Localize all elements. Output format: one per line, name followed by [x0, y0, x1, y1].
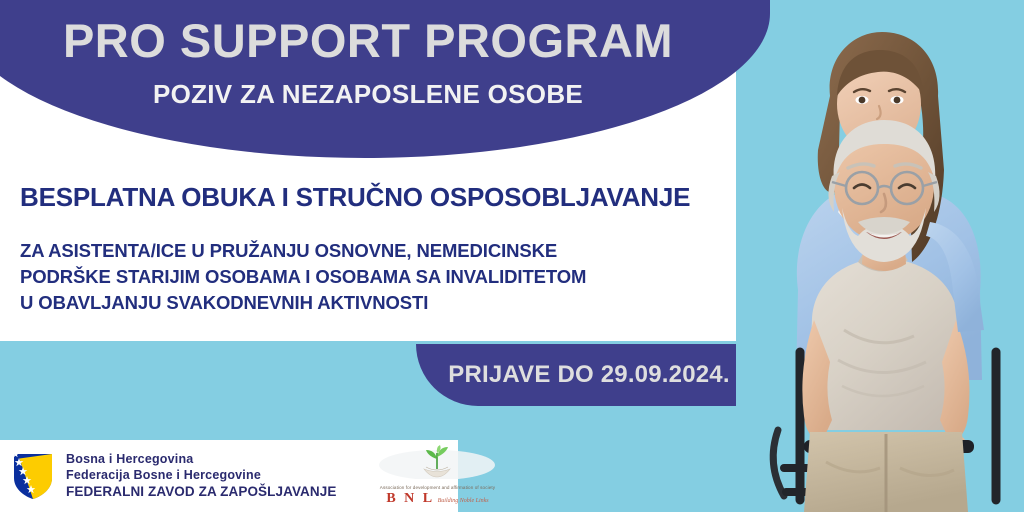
government-institution-text: Bosna i Hercegovina Federacija Bosne i H…	[66, 451, 336, 500]
gov-federation: Federacija Bosne i Hercegovine	[66, 467, 336, 483]
body-copy: BESPLATNA OBUKA I STRUČNO OSPOSOBLJAVANJ…	[20, 183, 720, 316]
deadline-banner: PRIJAVE DO 29.09.2024.	[416, 344, 736, 406]
header-banner: PRO SUPPORT PROGRAM POZIV ZA NEZAPOSLENE…	[0, 0, 770, 158]
bnl-slogan: Building Noble Links	[438, 498, 489, 504]
logo-bar: Bosna i Hercegovina Federacija Bosne i H…	[0, 440, 458, 512]
subcopy-line: ZA ASISTENTA/ICE U PRUŽANJU OSNOVNE, NEM…	[20, 238, 720, 264]
headline: BESPLATNA OBUKA I STRUČNO OSPOSOBLJAVANJ…	[20, 183, 720, 212]
subcopy-line: U OBAVLJANJU SVAKODNEVNIH AKTIVNOSTI	[20, 290, 720, 316]
bosnia-herzegovina-coat-of-arms-icon	[12, 452, 54, 500]
page-title: PRO SUPPORT PROGRAM	[63, 16, 673, 65]
bnl-wordmark: B N L	[386, 491, 434, 507]
deadline-text: PRIJAVE DO 29.09.2024.	[448, 361, 729, 389]
page-subtitle: POZIV ZA NEZAPOSLENE OSOBE	[153, 79, 583, 110]
subcopy-line: PODRŠKE STARIJIM OSOBAMA I OSOBAMA SA IN…	[20, 264, 720, 290]
subcopy: ZA ASISTENTA/ICE U PRUŽANJU OSNOVNE, NEM…	[20, 238, 720, 317]
photo-illustration	[734, 0, 1024, 512]
poster-canvas: PRO SUPPORT PROGRAM POZIV ZA NEZAPOSLENE…	[0, 0, 1024, 512]
sprout-in-hands-icon	[362, 445, 512, 479]
bnl-logo: Association for development and affirmat…	[362, 445, 512, 507]
gov-institute: FEDERALNI ZAVOD ZA ZAPOŠLJAVANJE	[66, 483, 336, 500]
bnl-tagline: Association for development and affirmat…	[362, 485, 512, 490]
gov-country: Bosna i Hercegovina	[66, 451, 336, 467]
caregiver-and-senior-photo	[734, 0, 1024, 512]
